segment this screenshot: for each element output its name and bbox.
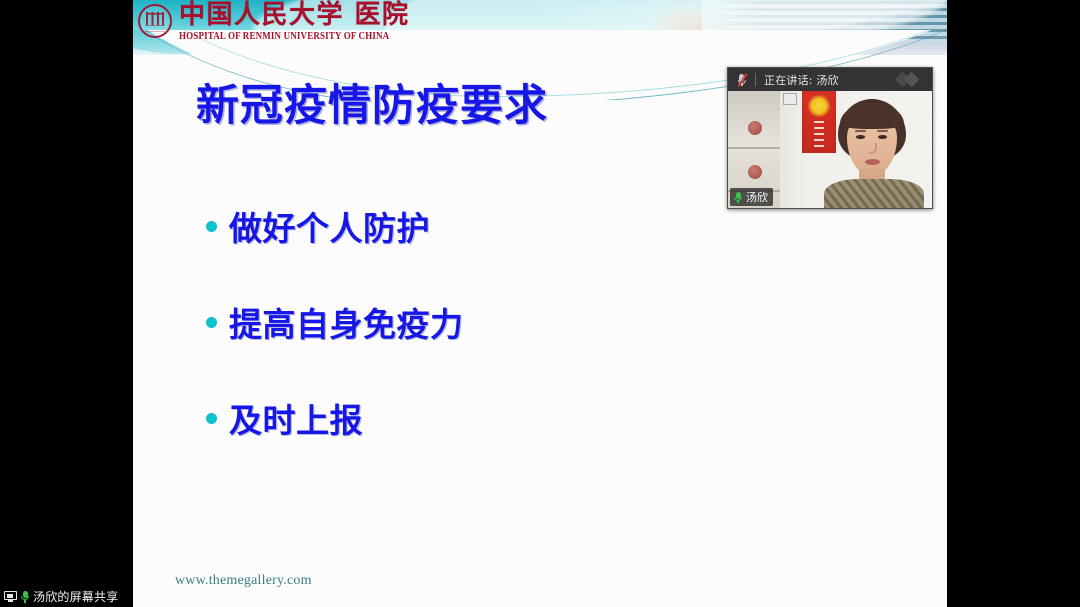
list-item: 提高自身免疫力 bbox=[206, 274, 806, 370]
double-chevron-icon[interactable] bbox=[897, 73, 925, 86]
titlebar-divider bbox=[755, 73, 756, 86]
hospital-logo-block: 中国人民大学 医院 HOSPITAL OF RENMIN UNIVERSITY … bbox=[138, 2, 410, 40]
video-panel-titlebar[interactable]: 正在讲话: 汤欣 bbox=[728, 68, 932, 91]
mic-on-icon[interactable] bbox=[20, 590, 30, 603]
hospital-name-en: HOSPITAL OF RENMIN UNIVERSITY OF CHINA bbox=[179, 31, 410, 41]
list-item: 做好个人防护 bbox=[206, 178, 806, 274]
meeting-screen-share-view: 中国人民大学 医院 HOSPITAL OF RENMIN UNIVERSITY … bbox=[0, 0, 1080, 607]
participant-name-badge: 汤欣 bbox=[730, 188, 773, 206]
bullet-dot-icon bbox=[206, 413, 217, 424]
video-participant-figure bbox=[816, 99, 932, 208]
slide-bullet-list: 做好个人防护 提高自身免疫力 及时上报 bbox=[206, 178, 806, 466]
slide-title: 新冠疫情防疫要求 bbox=[196, 71, 548, 133]
list-item: 及时上报 bbox=[206, 370, 806, 466]
bullet-dot-icon bbox=[206, 221, 217, 232]
bullet-dot-icon bbox=[206, 317, 217, 328]
bullet-label: 提高自身免疫力 bbox=[229, 298, 464, 346]
hospital-wordmark: 中国人民大学 医院 HOSPITAL OF RENMIN UNIVERSITY … bbox=[179, 2, 410, 40]
participant-name: 汤欣 bbox=[746, 189, 768, 205]
mic-on-icon bbox=[733, 191, 743, 204]
screen-share-icon bbox=[4, 591, 17, 602]
renmin-university-seal-icon bbox=[138, 4, 172, 38]
speaker-video-panel[interactable]: 正在讲话: 汤欣 bbox=[727, 67, 933, 209]
hospital-name-cn: 中国人民大学 医院 bbox=[179, 2, 410, 28]
slide-footer-url: www.themegallery.com bbox=[175, 573, 312, 589]
active-speaker-label: 正在讲话: 汤欣 bbox=[764, 72, 839, 88]
speaker-video-feed[interactable]: 汤欣 bbox=[728, 91, 932, 208]
mic-muted-icon[interactable] bbox=[736, 73, 748, 87]
screen-share-label: 汤欣的屏幕共享 bbox=[33, 588, 118, 605]
video-background-frame bbox=[783, 93, 797, 105]
bullet-label: 做好个人防护 bbox=[229, 202, 430, 250]
bullet-label: 及时上报 bbox=[229, 394, 363, 442]
screen-share-status-bar[interactable]: 汤欣的屏幕共享 bbox=[0, 586, 125, 607]
